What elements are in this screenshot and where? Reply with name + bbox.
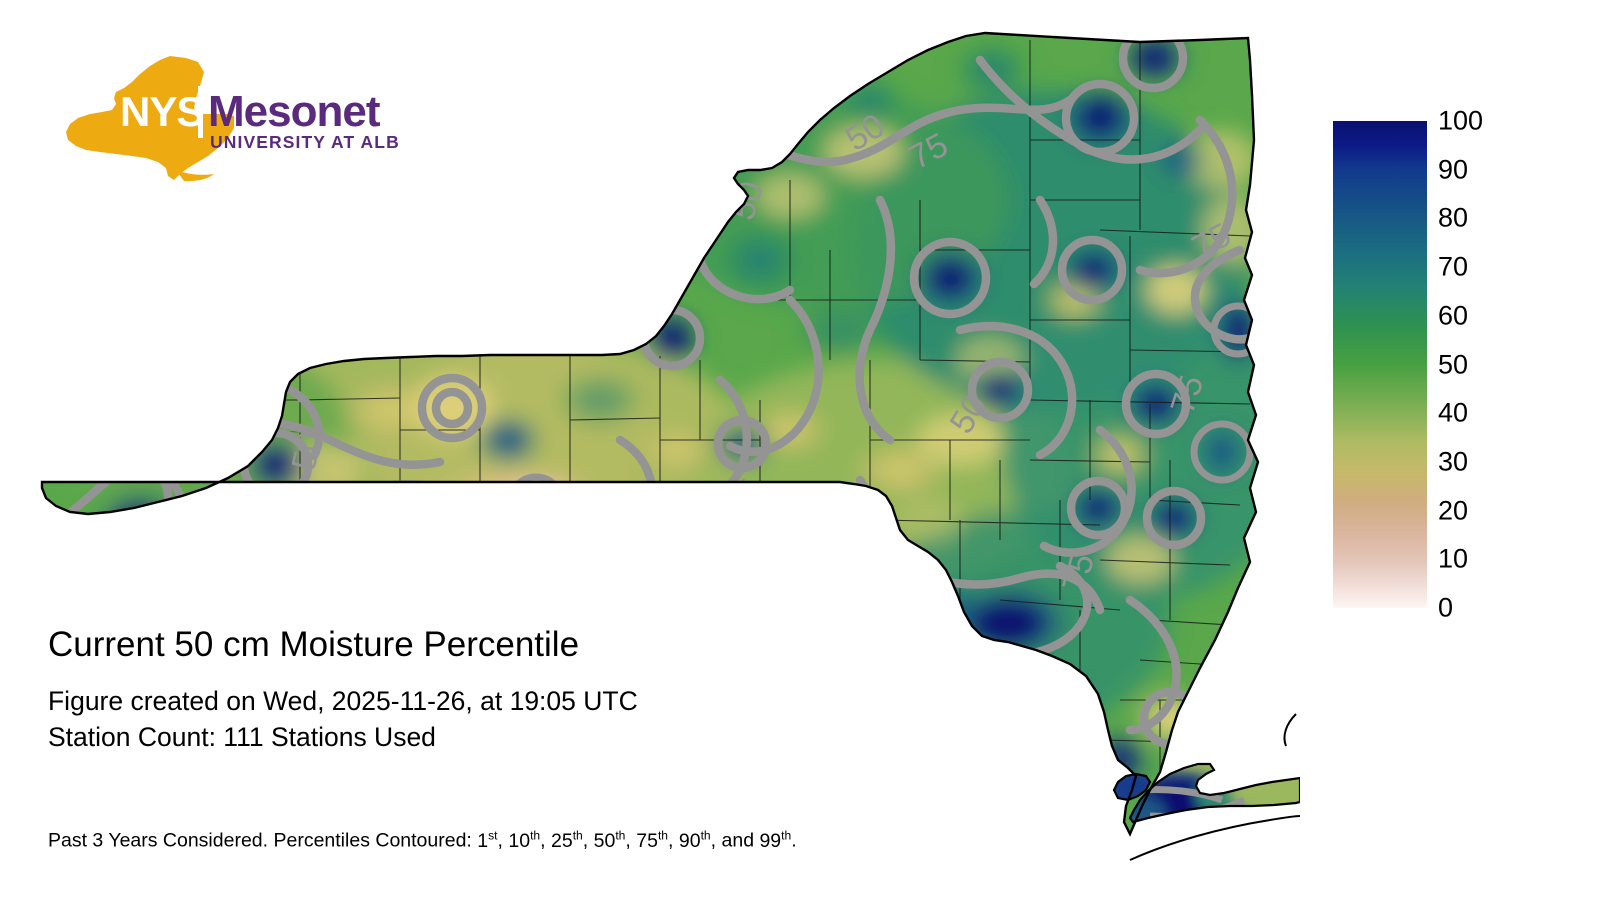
- colorbar: [1333, 121, 1427, 608]
- colorbar-tick-60: 60: [1438, 302, 1468, 329]
- colorbar-tick-100: 100: [1438, 108, 1483, 135]
- footnote-percentile-1: 1st: [477, 830, 497, 852]
- colorbar-tick-20: 20: [1438, 497, 1468, 524]
- footnote-percentile-75: 75th: [636, 830, 668, 852]
- logo-nys-text: NYS: [120, 88, 203, 135]
- footnote-percentile-99: 99th: [759, 830, 791, 852]
- footnote-percentile-50: 50th: [594, 830, 626, 852]
- colorbar-tick-70: 70: [1438, 254, 1468, 281]
- svg-text:50: 50: [285, 429, 330, 474]
- colorbar-tick-80: 80: [1438, 205, 1468, 232]
- station-count-line: Station Count: 111 Stations Used: [48, 719, 1088, 756]
- svg-text:50: 50: [344, 529, 393, 578]
- figure-caption-block: Current 50 cm Moisture Percentile Figure…: [48, 626, 1088, 756]
- colorbar-tick-90: 90: [1438, 156, 1468, 183]
- colorbar-tick-30: 30: [1438, 448, 1468, 475]
- colorbar-tick-10: 10: [1438, 546, 1468, 573]
- footnote-percentile-90: 90th: [679, 830, 711, 852]
- footnote-percentile-25: 25th: [551, 830, 583, 852]
- colorbar-tick-50: 50: [1438, 351, 1468, 378]
- svg-text:25: 25: [329, 511, 379, 561]
- figure-created-line: Figure created on Wed, 2025-11-26, at 19…: [48, 683, 1088, 720]
- svg-text:75: 75: [142, 500, 194, 552]
- nys-mesonet-logo: NYS Mesonet UNIVERSITY AT ALBANY: [58, 52, 398, 182]
- colorbar-gradient: [1333, 121, 1427, 608]
- colorbar-tick-40: 40: [1438, 400, 1468, 427]
- footnote-percentile-10: 10th: [508, 830, 540, 852]
- page-title: Current 50 cm Moisture Percentile: [48, 626, 1088, 665]
- logo-mesonet-text: Mesonet: [208, 87, 381, 136]
- colorbar-tick-labels: 1009080706050403020100: [1438, 121, 1558, 608]
- logo-university-text: UNIVERSITY AT ALBANY: [210, 132, 398, 152]
- figure-footnote: Past 3 Years Considered. Percentiles Con…: [48, 828, 797, 853]
- svg-text:25: 25: [589, 492, 635, 538]
- colorbar-tick-0: 0: [1438, 595, 1453, 622]
